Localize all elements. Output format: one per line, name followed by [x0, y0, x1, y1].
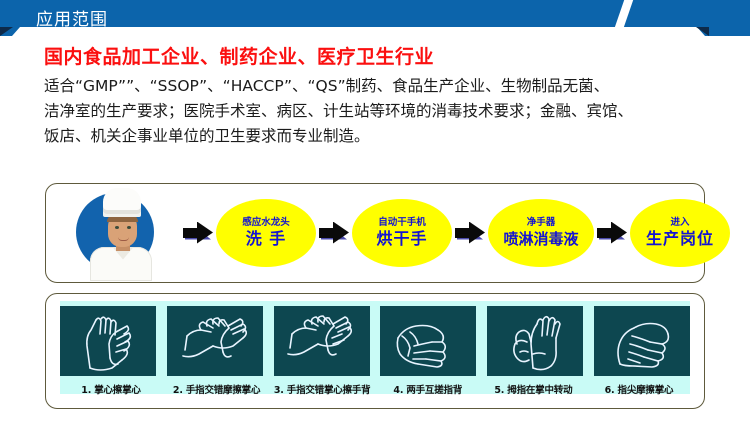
handwash-labels-row: 1. 掌心擦掌心 2. 手指交错摩擦掌心 3. 手指交错掌心擦手背 4. 两手互…	[60, 382, 690, 402]
thumb-rotate-icon	[487, 306, 583, 376]
flow-node-main-label: 烘干手	[376, 230, 427, 248]
flow-arrow-1-icon	[183, 222, 213, 244]
handwash-tile-3	[274, 306, 370, 376]
chef-mouth	[118, 237, 129, 241]
handwash-tile-5	[487, 306, 583, 376]
knuckle-rub-icon	[380, 306, 476, 376]
flow-node-main-label: 洗 手	[246, 230, 287, 248]
handwash-tile-4	[380, 306, 476, 376]
chef-eye-right	[127, 226, 131, 229]
fingertip-rub-icon	[594, 306, 690, 376]
handwash-tiles-row	[60, 306, 690, 376]
flow-node-dry-hands: 自动干手机 烘干手	[352, 199, 452, 267]
flow-node-main-label: 生产岗位	[646, 230, 714, 248]
header-banner: 应用范围	[0, 0, 750, 36]
handwash-label-4: 4. 两手互搓指背	[377, 382, 479, 396]
flow-node-sub-label: 自动干手机	[378, 217, 426, 228]
paragraph-line-2: 洁净室的生产要求；医院手术室、病区、计生站等环境的消毒技术要求；金融、宾馆、	[44, 99, 720, 124]
handwash-label-2: 2. 手指交错摩擦掌心	[166, 382, 268, 396]
flow-node-wash-hands: 感应水龙头 洗 手	[216, 199, 316, 267]
flow-arrow-2-icon	[319, 222, 349, 244]
process-flow-panel: 感应水龙头 洗 手 自动干手机 烘干手 净手器 喷淋消毒液 进入 生产岗位	[45, 183, 705, 283]
header-banner-shape	[0, 0, 750, 36]
handwash-label-6: 6. 指尖摩擦掌心	[588, 382, 690, 396]
flow-node-sub-label: 净手器	[527, 217, 556, 228]
paragraph-line-1: 适合“GMP””、“SSOP”、“HACCP”、“QS”制药、食品生产企业、生物…	[44, 74, 720, 99]
flow-node-disinfect-spray: 净手器 喷淋消毒液	[488, 199, 594, 267]
process-flow-row: 感应水龙头 洗 手 自动干手机 烘干手 净手器 喷淋消毒液 进入 生产岗位	[46, 184, 706, 281]
chef-hat	[103, 188, 141, 214]
handwash-label-3: 3. 手指交错掌心擦手背	[271, 382, 373, 396]
handwash-label-5: 5. 拇指在掌中转动	[482, 382, 584, 396]
handwash-tile-2	[167, 306, 263, 376]
handwash-tile-6	[594, 306, 690, 376]
interlaced-fingers-back-icon	[274, 306, 370, 376]
section-headline: 国内食品加工企业、制药企业、医疗卫生行业	[44, 42, 434, 69]
handwash-steps-panel: 1. 掌心擦掌心 2. 手指交错摩擦掌心 3. 手指交错掌心擦手背 4. 两手互…	[45, 293, 705, 409]
handwash-label-1: 1. 掌心擦掌心	[60, 382, 162, 396]
body-paragraph: 适合“GMP””、“SSOP”、“HACCP”、“QS”制药、食品生产企业、生物…	[44, 74, 720, 149]
paragraph-line-3: 饭店、机关企事业单位的卫生要求而专业制造。	[44, 124, 720, 149]
chef-eye-left	[115, 226, 119, 229]
handwash-tile-1	[60, 306, 156, 376]
flow-node-sub-label: 进入	[670, 217, 689, 228]
palm-rub-palm-icon	[60, 306, 156, 376]
flow-node-enter-production: 进入 生产岗位	[630, 199, 730, 267]
flow-arrow-3-icon	[455, 222, 485, 244]
flow-arrow-4-icon	[597, 222, 627, 244]
flow-node-main-label: 喷淋消毒液	[503, 230, 578, 248]
interlaced-fingers-palm-icon	[167, 306, 263, 376]
flow-node-sub-label: 感应水龙头	[242, 217, 290, 228]
chef-illustration-icon	[62, 185, 180, 281]
page-title: 应用范围	[36, 5, 108, 30]
